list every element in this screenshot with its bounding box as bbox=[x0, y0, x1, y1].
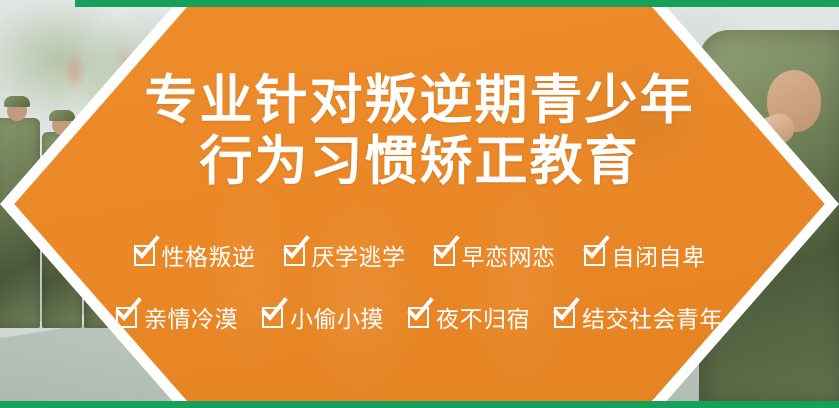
checkbox-checked-icon bbox=[434, 245, 455, 266]
checklist-item[interactable]: 小偷小摸 bbox=[262, 300, 384, 334]
checklist-item[interactable]: 夜不归宿 bbox=[408, 300, 530, 334]
checkbox-checked-icon bbox=[554, 307, 575, 328]
checklist-item-label: 结交社会青年 bbox=[582, 300, 723, 334]
checklist-item-label: 早恋网恋 bbox=[462, 238, 556, 272]
checklist-item[interactable]: 亲情冷漠 bbox=[116, 300, 238, 334]
promotional-banner: 专业针对叛逆期青少年 行为习惯矫正教育 性格叛逆 厌学逃学 bbox=[0, 0, 839, 408]
checklist-item-label: 小偷小摸 bbox=[290, 300, 384, 334]
checkbox-checked-icon bbox=[408, 307, 429, 328]
checklist-item[interactable]: 性格叛逆 bbox=[134, 238, 256, 272]
bottom-green-rule bbox=[0, 401, 839, 408]
checklist-item[interactable]: 自闭自卑 bbox=[584, 238, 706, 272]
checklist-row-2: 亲情冷漠 小偷小摸 夜不归宿 bbox=[116, 300, 723, 334]
headline-line-2: 行为习惯矫正教育 bbox=[200, 133, 640, 190]
checklist-item-label: 厌学逃学 bbox=[312, 238, 406, 272]
checkbox-checked-icon bbox=[284, 245, 305, 266]
checkbox-checked-icon bbox=[584, 245, 605, 266]
checklist-item[interactable]: 早恋网恋 bbox=[434, 238, 556, 272]
checklist-item-label: 亲情冷漠 bbox=[144, 300, 238, 334]
checklist-row-1: 性格叛逆 厌学逃学 早恋网恋 bbox=[134, 238, 706, 272]
checkbox-checked-icon bbox=[262, 307, 283, 328]
checkbox-checked-icon bbox=[116, 307, 137, 328]
checklist: 性格叛逆 厌学逃学 早恋网恋 bbox=[0, 238, 839, 334]
checklist-item-label: 夜不归宿 bbox=[436, 300, 530, 334]
checklist-item-label: 性格叛逆 bbox=[162, 238, 256, 272]
headline-line-1: 专业针对叛逆期青少年 bbox=[145, 72, 695, 129]
banner-content: 专业针对叛逆期青少年 行为习惯矫正教育 性格叛逆 厌学逃学 bbox=[0, 0, 839, 408]
checkbox-checked-icon bbox=[134, 245, 155, 266]
checklist-item[interactable]: 结交社会青年 bbox=[554, 300, 723, 334]
checklist-item-label: 自闭自卑 bbox=[612, 238, 706, 272]
checklist-item[interactable]: 厌学逃学 bbox=[284, 238, 406, 272]
top-green-rule bbox=[75, 0, 839, 7]
